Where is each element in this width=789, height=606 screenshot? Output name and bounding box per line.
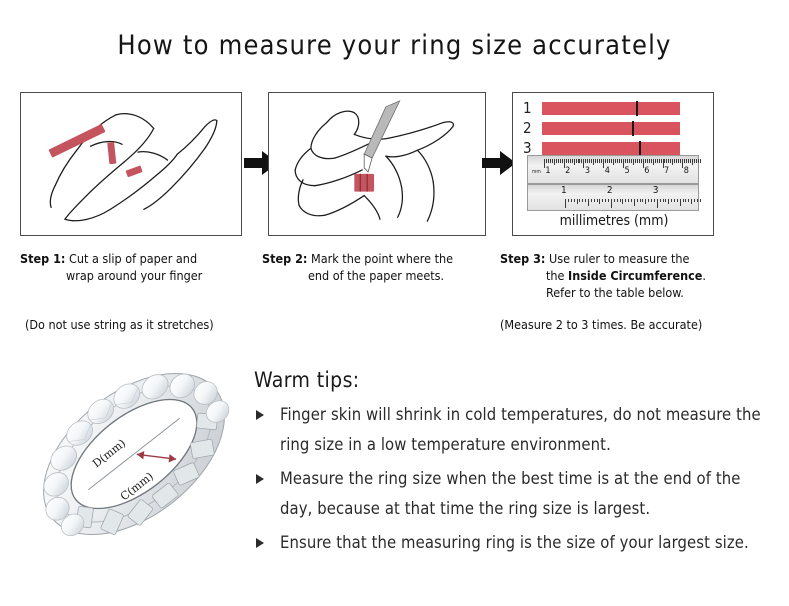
measure-strip-row-3: 3 (523, 141, 680, 156)
step-3-text-line2-prefix: the (546, 268, 568, 283)
ruler-unit-caption: millimetres (mm) (513, 213, 715, 229)
step-1-label: Step 1: (20, 251, 65, 266)
ruler-illustration: 12345678mm123 (527, 155, 699, 211)
ruler-cm-minor-tick (651, 159, 652, 163)
step-2-illustration-panel (268, 92, 486, 236)
ruler-cm-minor-tick (607, 159, 608, 163)
warm-tip-text-3: Ensure that the measuring ring is the si… (280, 533, 749, 552)
ruler-cm-minor-tick (597, 159, 598, 163)
ruler-inch-minor-tick (579, 199, 580, 202)
ruler-cm-minor-tick (560, 159, 561, 163)
ruler-cm-minor-tick (692, 159, 693, 165)
ruler-inch-tick-2 (611, 199, 612, 208)
ruler-cm-minor-tick (611, 159, 612, 163)
ruler-inch-minor-tick (680, 199, 681, 206)
ruler-inch-minor-tick (591, 199, 592, 202)
ruler-inch-minor-tick (674, 199, 675, 202)
ruler-inch-band (527, 184, 699, 211)
ruler-inch-minor-tick (574, 199, 575, 202)
ruler-cm-minor-tick (621, 159, 622, 163)
ruler-cm-minor-tick (655, 159, 656, 163)
ruler-cm-minor-tick (661, 159, 662, 163)
ruler-inch-minor-tick (685, 199, 686, 202)
ruler-inch-minor-tick (571, 199, 572, 202)
step-3-text-line2-suffix: . (702, 268, 706, 283)
ruler-cm-minor-tick (670, 159, 671, 163)
step-2-caption: Step 2: Mark the point where the end of … (262, 250, 492, 284)
ruler-cm-label-8: 8 (684, 167, 689, 176)
ruler-cm-label-3: 3 (585, 167, 590, 176)
triangle-right-icon-3 (256, 538, 264, 548)
ruler-inch-minor-tick (605, 199, 606, 202)
step-1-text-line1: Cut a slip of paper and (69, 251, 197, 266)
ruler-inch-minor-tick (663, 199, 664, 202)
ruler-cm-minor-tick (562, 159, 563, 163)
ruler-inch-minor-tick (668, 199, 669, 204)
step-3-emphasis-inside-circumference: Inside Circumference (568, 268, 702, 283)
measure-strip-tick-1 (636, 101, 638, 116)
ruler-inch-minor-tick (631, 199, 632, 202)
ruler-cm-minor-tick (578, 159, 579, 163)
ruler-inch-minor-tick (677, 199, 678, 202)
ruler-cm-minor-tick (635, 159, 636, 163)
measure-strip-tick-2 (632, 121, 634, 136)
ruler-inch-minor-tick (617, 199, 618, 202)
steps-row: 1 2 3 12345678mm123 millimetres (mm) (20, 92, 714, 238)
ruler-inch-minor-tick (594, 199, 595, 202)
ruler-cm-tick-4 (603, 159, 604, 168)
step-2-label: Step 2: (262, 251, 307, 266)
ruler-inch-tick-1 (565, 199, 566, 208)
ruler-inch-minor-tick (599, 199, 600, 204)
ruler-cm-tick-8 (682, 159, 683, 168)
ruler-inch-minor-tick (602, 199, 603, 202)
ruler-cm-minor-tick (552, 159, 553, 163)
ruler-inch-minor-tick (660, 199, 661, 202)
warm-tips-heading: Warm tips: (254, 368, 360, 392)
measure-strip-row-2: 2 (523, 121, 680, 136)
ruler-cm-minor-tick (579, 159, 580, 163)
ruler-cm-minor-tick (572, 159, 573, 163)
ruler-inch-minor-tick (645, 199, 646, 204)
ruler-cm-minor-tick (593, 159, 594, 165)
measure-strip-bar-3 (542, 142, 680, 155)
ruler-cm-minor-tick (570, 159, 571, 163)
ruler-cm-label-4: 4 (605, 167, 610, 176)
measure-strip-number-1: 1 (523, 101, 538, 116)
step-3-text-line1: Use ruler to measure the (549, 251, 689, 266)
ruler-inch-minor-tick (694, 199, 695, 202)
ruler-inch-minor-tick (608, 199, 609, 202)
ruler-cm-minor-tick (647, 159, 648, 163)
ruler-cm-minor-tick (649, 159, 650, 163)
ruler-cm-tick-5 (623, 159, 624, 168)
ruler-cm-minor-tick (629, 159, 630, 163)
ruler-unit-abbr: mm (532, 170, 541, 175)
step-2-text-line2: end of the paper meets. (262, 267, 492, 284)
ruler-cm-minor-tick (566, 159, 567, 163)
ruler-cm-minor-tick (653, 159, 654, 165)
measure-strip-bar-2 (542, 122, 680, 135)
ruler-cm-minor-tick (625, 159, 626, 163)
ruler-inch-minor-tick (691, 199, 692, 204)
ruler-inch-minor-tick (648, 199, 649, 202)
ruler-cm-label-1: 1 (545, 167, 550, 176)
ruler-cm-minor-tick (678, 159, 679, 163)
ruler-inch-minor-tick (671, 199, 672, 202)
ruler-inch-minor-tick (620, 199, 621, 202)
ruler-cm-tick-1 (544, 159, 545, 168)
ruler-cm-minor-tick (696, 159, 697, 163)
ruler-cm-minor-tick (674, 159, 675, 163)
ruler-cm-minor-tick (581, 159, 582, 163)
ruler-cm-minor-tick (641, 159, 642, 163)
ruler-inch-label-3: 3 (653, 186, 659, 196)
ruler-cm-minor-tick (601, 159, 602, 163)
step-1-illustration-panel (20, 92, 242, 236)
ruler-cm-minor-tick (627, 159, 628, 163)
ruler-cm-minor-tick (659, 159, 660, 163)
ruler-inch-label-2: 2 (607, 186, 613, 196)
ruler-inch-minor-tick (683, 199, 684, 202)
ruler-inch-minor-tick (577, 199, 578, 204)
ruler-cm-label-6: 6 (644, 167, 649, 176)
ruler-cm-minor-tick (574, 159, 575, 165)
ruler-cm-minor-tick (576, 159, 577, 163)
step-2-text-line1: Mark the point where the (311, 251, 453, 266)
ruler-cm-tick-7 (663, 159, 664, 168)
warm-tip-item-1: Finger skin will shrink in cold temperat… (254, 400, 774, 460)
step-3-caption: Step 3: Use ruler to measure the the Ins… (500, 250, 740, 301)
step-1-note: (Do not use string as it stretches) (25, 317, 214, 332)
arrow-right-icon-2 (482, 150, 516, 176)
warm-tip-item-2: Measure the ring size when the best time… (254, 464, 774, 524)
ruler-inch-minor-tick (614, 199, 615, 202)
ruler-cm-minor-tick (550, 159, 551, 163)
ruler-cm-minor-tick (548, 159, 549, 163)
step-1-text-line2: wrap around your finger (20, 267, 250, 284)
ruler-cm-minor-tick (591, 159, 592, 163)
ruler-cm-minor-tick (666, 159, 667, 163)
ruler-cm-minor-tick (664, 159, 665, 163)
ruler-cm-minor-tick (676, 159, 677, 163)
ruler-inch-minor-tick (688, 199, 689, 202)
step-3-text-line3: Refer to the table below. (500, 284, 740, 301)
ruler-cm-tick-3 (583, 159, 584, 168)
ruler-cm-minor-tick (686, 159, 687, 163)
ruler-inch-minor-tick (585, 199, 586, 202)
ruler-cm-minor-tick (631, 159, 632, 163)
ruler-cm-minor-tick (617, 159, 618, 163)
ruler-cm-minor-tick (609, 159, 610, 163)
page-title: How to measure your ring size accurately (0, 30, 789, 61)
ruler-cm-minor-tick (585, 159, 586, 163)
ruler-cm-tick-2 (564, 159, 565, 168)
ruler-cm-minor-tick (668, 159, 669, 163)
ruler-cm-minor-tick (613, 159, 614, 165)
ruler-cm-minor-tick (615, 159, 616, 163)
hand-with-paper-strip-icon (21, 93, 241, 235)
warm-tips-list: Finger skin will shrink in cold temperat… (254, 400, 774, 562)
ruler-inch-minor-tick (637, 199, 638, 202)
ruler-cm-tick-6 (643, 159, 644, 168)
ruler-inch-minor-tick (597, 199, 598, 202)
step-3-label: Step 3: (500, 251, 545, 266)
ruler-cm-minor-tick (599, 159, 600, 163)
ruler-cm-label-7: 7 (664, 167, 669, 176)
ruler-inch-minor-tick (642, 199, 643, 202)
ruler-cm-minor-tick (595, 159, 596, 163)
ruler-cm-minor-tick (587, 159, 588, 163)
ruler-inch-minor-tick (654, 199, 655, 202)
ruler-inch-minor-tick (700, 199, 701, 202)
ruler-inch-label-1: 1 (561, 186, 567, 196)
ruler-cm-minor-tick (698, 159, 699, 163)
ruler-cm-minor-tick (558, 159, 559, 163)
measure-strip-tick-3 (639, 141, 641, 156)
ruler-cm-minor-tick (690, 159, 691, 163)
measure-strip-row-1: 1 (523, 101, 680, 116)
hand-with-pen-marking-icon (269, 93, 485, 235)
ruler-cm-minor-tick (589, 159, 590, 163)
ruler-cm-minor-tick (605, 159, 606, 163)
measure-strip-number-3: 3 (523, 141, 538, 156)
measure-strip-number-2: 2 (523, 121, 538, 136)
warm-tip-text-2: Measure the ring size when the best time… (280, 469, 741, 518)
ruler-cm-minor-tick (619, 159, 620, 163)
ruler-inch-minor-tick (588, 199, 589, 206)
ruler-cm-minor-tick (694, 159, 695, 163)
ruler-inch-minor-tick (651, 199, 652, 202)
ring-diagram: D(mm) C(mm) (18, 352, 250, 557)
step-1-caption: Step 1: Cut a slip of paper and wrap aro… (20, 250, 250, 284)
ruler-inch-minor-tick (628, 199, 629, 202)
ruler-inch-minor-tick (568, 199, 569, 202)
ruler-cm-minor-tick (637, 159, 638, 163)
ruler-cm-minor-tick (680, 159, 681, 163)
measure-strip-bar-1 (542, 102, 680, 115)
triangle-right-icon-2 (256, 474, 264, 484)
ruler-cm-minor-tick (657, 159, 658, 163)
triangle-right-icon-1 (256, 410, 264, 420)
step-3-note: (Measure 2 to 3 times. Be accurate) (500, 317, 702, 332)
warm-tip-item-3: Ensure that the measuring ring is the si… (254, 528, 774, 558)
ruler-cm-minor-tick (672, 159, 673, 165)
ruler-cm-minor-tick (688, 159, 689, 163)
ruler-inch-minor-tick (697, 199, 698, 202)
ruler-inch-minor-tick (625, 199, 626, 202)
diamond-eternity-ring-photo (18, 352, 250, 557)
ruler-inch-tick-3 (657, 199, 658, 208)
ruler-cm-minor-tick (556, 159, 557, 163)
step-3-measurement-panel: 1 2 3 12345678mm123 millimetres (mm) (512, 92, 714, 236)
ruler-cm-label-2: 2 (565, 167, 570, 176)
ruler-inch-minor-tick (640, 199, 641, 202)
warm-tip-text-1: Finger skin will shrink in cold temperat… (280, 405, 761, 454)
ruler-cm-minor-tick (639, 159, 640, 163)
ruler-cm-label-5: 5 (624, 167, 629, 176)
ruler-inch-minor-tick (665, 199, 666, 202)
ruler-cm-minor-tick (546, 159, 547, 163)
ruler-cm-minor-tick (554, 159, 555, 165)
ruler-cm-minor-tick (700, 159, 701, 163)
ruler-inch-minor-tick (582, 199, 583, 202)
ruler-cm-minor-tick (568, 159, 569, 163)
ruler-cm-minor-tick (645, 159, 646, 163)
ruler-inch-minor-tick (622, 199, 623, 204)
ruler-cm-minor-tick (684, 159, 685, 163)
ruler-cm-minor-tick (633, 159, 634, 165)
ruler-inch-minor-tick (634, 199, 635, 206)
